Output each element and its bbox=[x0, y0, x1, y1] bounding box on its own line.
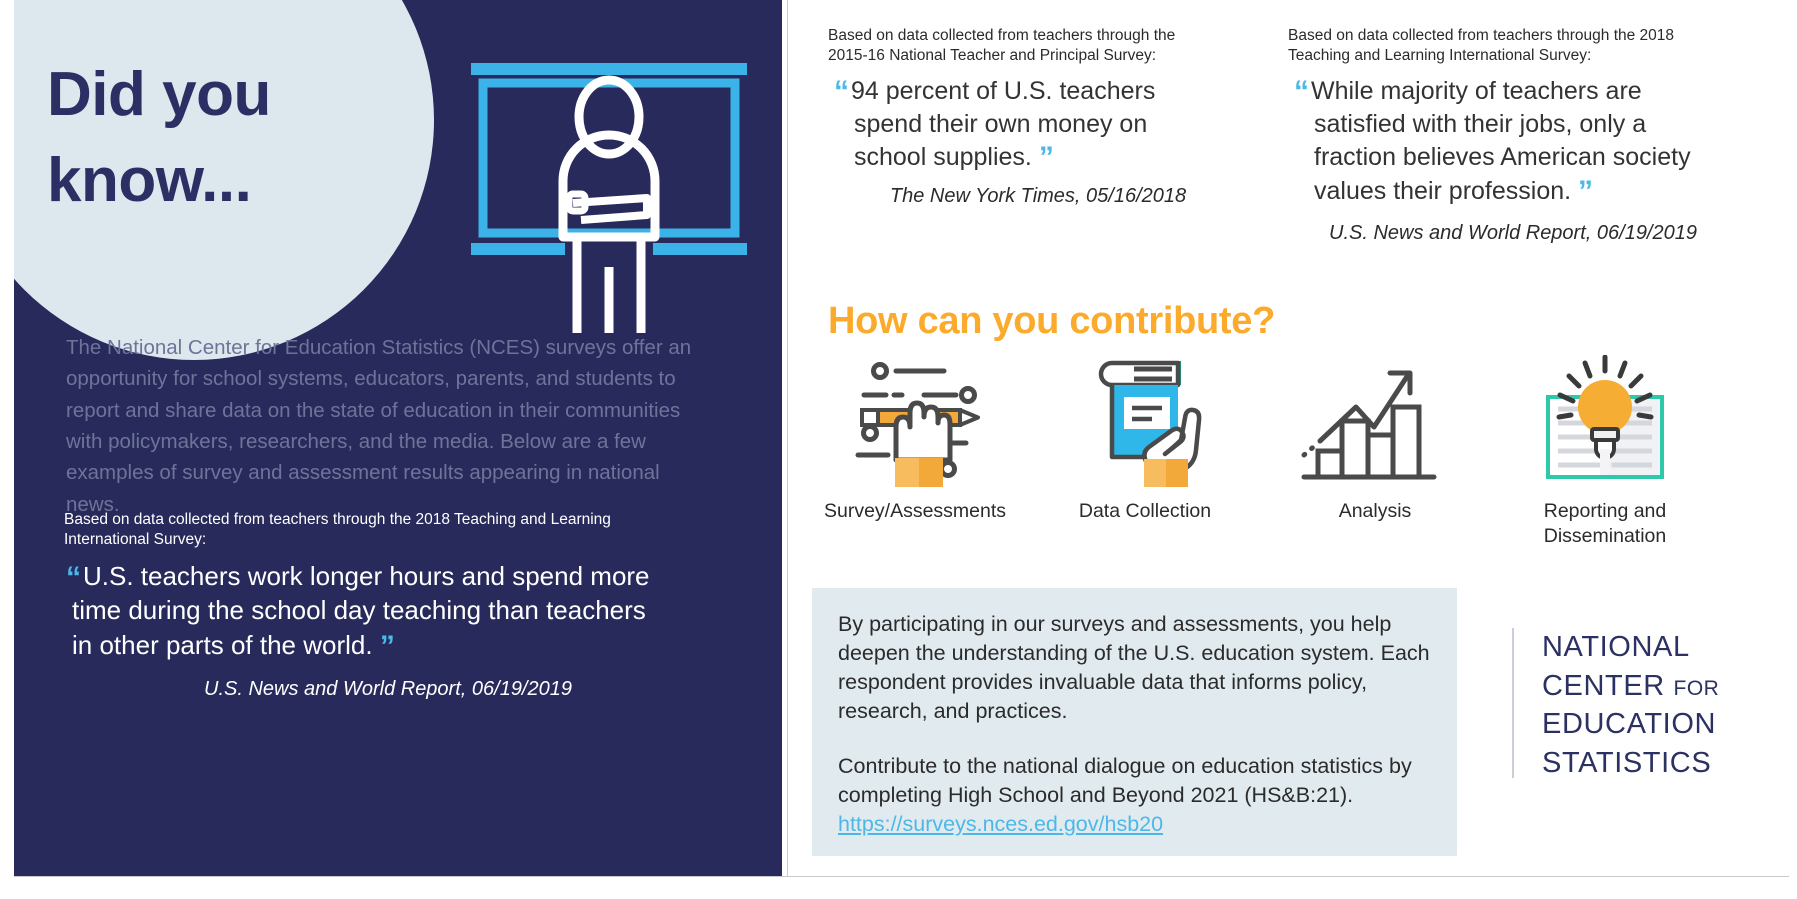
quote-text-block: “94 percent of U.S. teachers spend their… bbox=[828, 75, 1218, 175]
nces-logo: NATIONAL CENTER FOR EDUCATION STATISTICS bbox=[1512, 628, 1719, 778]
quote-card-nyt: Based on data collected from teachers th… bbox=[828, 26, 1218, 208]
contribute-step-data-collection: Data Collection bbox=[1030, 355, 1260, 524]
vertical-divider bbox=[787, 0, 788, 876]
participation-callout-box: By participating in our surveys and asse… bbox=[812, 588, 1457, 856]
contribute-heading: How can you contribute? bbox=[828, 300, 1275, 343]
quote-card-usnews: Based on data collected from teachers th… bbox=[1288, 26, 1708, 245]
contribute-step-label: Reporting and Dissemination bbox=[1490, 499, 1720, 548]
infographic-slide: Did you know... bbox=[0, 0, 1797, 899]
open-quote-icon: “ bbox=[834, 75, 849, 108]
contribute-step-label: Survey/Assessments bbox=[824, 499, 1006, 524]
quote-text-block: “While majority of teachers are satisfie… bbox=[1288, 75, 1708, 208]
quote-text: 94 percent of U.S. teachers spend their … bbox=[851, 77, 1155, 172]
quote-text-block: “U.S. teachers work longer hours and spe… bbox=[64, 559, 664, 662]
quote-source-note: Based on data collected from teachers th… bbox=[1288, 26, 1708, 67]
open-quote-icon: “ bbox=[66, 561, 81, 594]
contribute-step-analysis: Analysis bbox=[1260, 355, 1490, 524]
logo-line-1: NATIONAL bbox=[1542, 628, 1719, 667]
contribute-step-survey: Survey/Assessments bbox=[800, 355, 1030, 524]
contribute-step-label: Analysis bbox=[1339, 499, 1412, 524]
left-navy-panel: Did you know... bbox=[14, 0, 782, 876]
contribute-step-reporting: Reporting and Dissemination bbox=[1490, 355, 1720, 548]
teacher-at-chalkboard-icon bbox=[469, 55, 749, 340]
bar-chart-trend-arrow-icon bbox=[1300, 355, 1450, 487]
quote-source-note: Based on data collected from teachers th… bbox=[828, 26, 1218, 67]
intro-paragraph: The National Center for Education Statis… bbox=[66, 332, 706, 520]
quote-attribution: U.S. News and World Report, 06/19/2019 bbox=[64, 678, 664, 701]
survey-link[interactable]: https://surveys.nces.ed.gov/hsb20 bbox=[838, 810, 1163, 839]
callout-paragraph-1: By participating in our surveys and asse… bbox=[838, 610, 1431, 726]
quote-source-note: Based on data collected from teachers th… bbox=[64, 510, 664, 551]
logo-line-2: CENTER FOR bbox=[1542, 667, 1719, 706]
logo-line-2-main: CENTER bbox=[1542, 670, 1674, 702]
hand-with-pencil-icon bbox=[840, 355, 990, 487]
close-quote-icon: ” bbox=[380, 630, 395, 663]
quote-attribution: U.S. News and World Report, 06/19/2019 bbox=[1288, 222, 1708, 245]
contribute-step-label: Data Collection bbox=[1079, 499, 1211, 524]
lightbulb-over-document-icon bbox=[1530, 355, 1680, 487]
quote-text: U.S. teachers work longer hours and spen… bbox=[72, 561, 650, 660]
bottom-divider bbox=[14, 876, 1789, 877]
contribute-steps-row: Survey/Assessments bbox=[800, 355, 1720, 548]
quote-card-left: Based on data collected from teachers th… bbox=[64, 510, 664, 701]
close-quote-icon: ” bbox=[1578, 175, 1593, 208]
quote-attribution: The New York Times, 05/16/2018 bbox=[828, 185, 1218, 208]
logo-line-4: STATISTICS bbox=[1542, 744, 1719, 783]
open-quote-icon: “ bbox=[1294, 75, 1309, 108]
page-title: Did you know... bbox=[47, 52, 417, 223]
quote-text: While majority of teachers are satisfied… bbox=[1311, 77, 1691, 205]
hand-holding-clipboard-icon bbox=[1070, 355, 1220, 487]
close-quote-icon: ” bbox=[1039, 141, 1054, 174]
logo-line-2-for: FOR bbox=[1674, 677, 1720, 700]
callout-paragraph-2: Contribute to the national dialogue on e… bbox=[838, 752, 1431, 810]
logo-line-3: EDUCATION bbox=[1542, 705, 1719, 744]
